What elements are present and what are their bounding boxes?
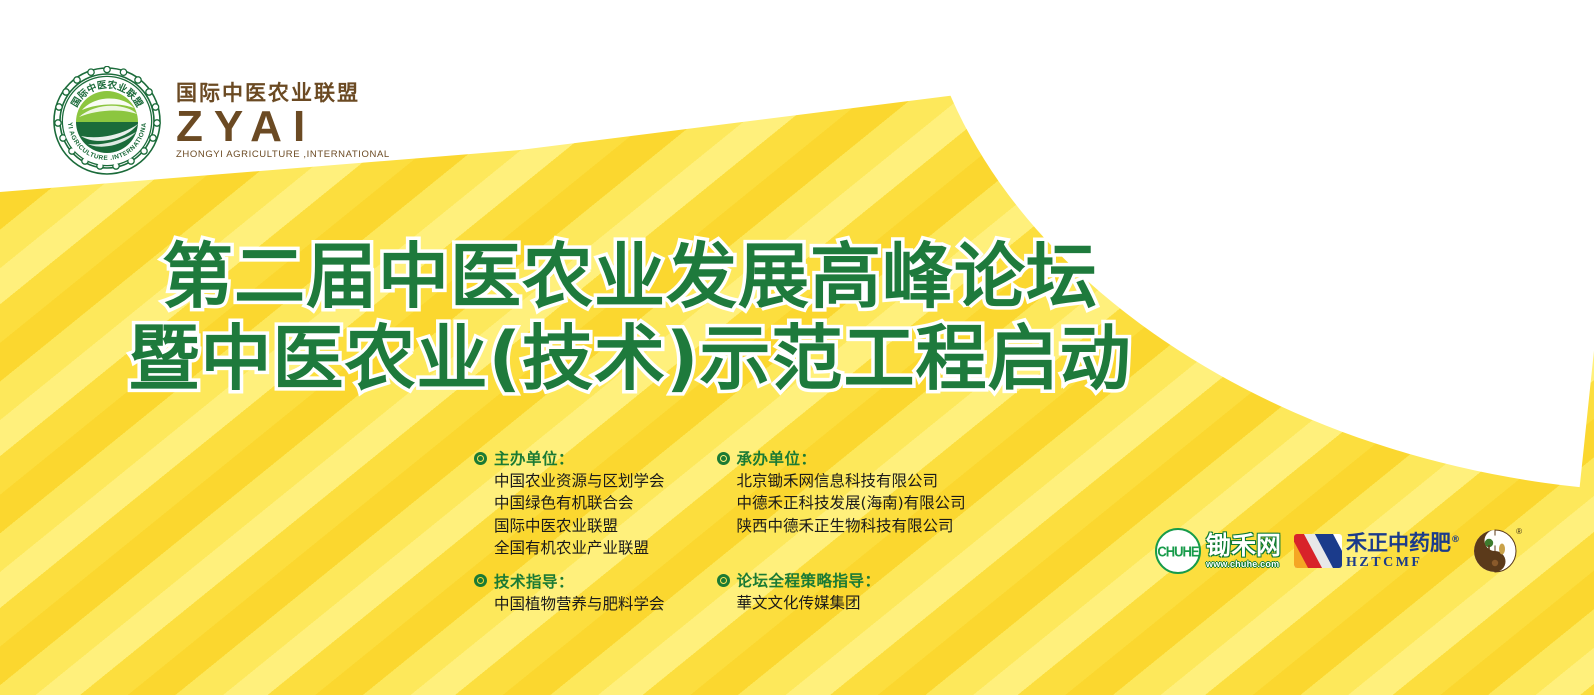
info-group-co-organizers: 承办单位： 北京锄禾网信息科技有限公司 中德禾正科技发展(海南)有限公司 陕西中… — [717, 447, 966, 559]
info-item: 陕西中德禾正生物科技有限公司 — [737, 515, 966, 537]
chuhe-url: www.chuhe.com — [1206, 560, 1281, 569]
sponsor-logo-row: CHUHE 锄禾网 www.chuhe.com 禾正中药肥® HZTCMF — [1155, 528, 1517, 574]
info-item: 北京锄禾网信息科技有限公司 — [737, 470, 966, 492]
title-line-1: 第二届中医农业发展高峰论坛 — [0, 236, 1260, 318]
chuhe-wordmark: 锄禾网 www.chuhe.com — [1206, 533, 1281, 569]
zyai-logo: 国际中医农业联盟 ZHONGYI AGRICULTURE .INTERNATIO… — [52, 66, 390, 176]
info-group-heading-row: 论坛全程策略指导： — [717, 569, 966, 591]
info-heading: 承办单位： — [737, 447, 817, 469]
zyai-seal-icon: 国际中医农业联盟 ZHONGYI AGRICULTURE .INTERNATIO… — [52, 66, 162, 176]
info-spacer — [717, 537, 966, 559]
zyai-acronym: ZYAI — [176, 106, 390, 148]
bullet-ring-icon — [474, 574, 487, 587]
info-heading: 主办单位： — [494, 447, 574, 469]
organizer-info: 主办单位： 中国农业资源与区划学会 中国绿色有机联合会 国际中医农业联盟 全国有… — [474, 447, 966, 615]
sponsor-logo-tree-emblem: ® — [1473, 529, 1517, 573]
zyai-name-en: ZHONGYI AGRICULTURE ,INTERNATIONAL — [176, 150, 390, 160]
info-group-technical-guidance: 技术指导： 中国植物营养与肥料学会 — [474, 570, 665, 615]
banner-canvas: 国际中医农业联盟 ZHONGYI AGRICULTURE .INTERNATIO… — [0, 0, 1594, 695]
registered-mark: ® — [1516, 527, 1522, 536]
registered-mark: ® — [1451, 535, 1460, 545]
info-heading: 论坛全程策略指导： — [737, 569, 881, 591]
title-line-2: 暨中医农业(技术)示范工程启动 — [0, 318, 1260, 400]
info-item: 中国绿色有机联合会 — [494, 492, 665, 514]
info-heading: 技术指导： — [494, 570, 574, 592]
info-item: 中国农业资源与区划学会 — [494, 470, 665, 492]
info-item-list: 北京锄禾网信息科技有限公司 中德禾正科技发展(海南)有限公司 陕西中德禾正生物科… — [717, 470, 966, 537]
info-column-left: 主办单位： 中国农业资源与区划学会 中国绿色有机联合会 国际中医农业联盟 全国有… — [474, 447, 665, 615]
bullet-ring-icon — [717, 452, 730, 465]
banner-title: 第二届中医农业发展高峰论坛 暨中医农业(技术)示范工程启动 — [0, 236, 1260, 401]
chuhe-name-cn: 锄禾网 — [1206, 533, 1281, 558]
info-group-heading-row: 技术指导： — [474, 570, 665, 592]
info-column-right: 承办单位： 北京锄禾网信息科技有限公司 中德禾正科技发展(海南)有限公司 陕西中… — [717, 447, 966, 615]
info-item-list: 中国农业资源与区划学会 中国绿色有机联合会 国际中医农业联盟 全国有机农业产业联… — [474, 470, 665, 560]
hezheng-name-cn-text: 禾正中药肥 — [1346, 531, 1451, 555]
info-item: 全国有机农业产业联盟 — [494, 537, 665, 559]
sponsor-logo-chuhe: CHUHE 锄禾网 www.chuhe.com — [1155, 528, 1281, 574]
info-item: 中德禾正科技发展(海南)有限公司 — [737, 492, 966, 514]
info-item-list: 中国植物营养与肥料学会 — [474, 593, 665, 615]
hezheng-wordmark: 禾正中药肥® HZTCMF — [1346, 533, 1460, 570]
info-group-organizers: 主办单位： 中国农业资源与区划学会 中国绿色有机联合会 国际中医农业联盟 全国有… — [474, 447, 665, 560]
info-group-heading-row: 主办单位： — [474, 447, 665, 469]
bullet-ring-icon — [717, 574, 730, 587]
bullet-ring-icon — [474, 452, 487, 465]
tree-root-emblem-icon — [1473, 529, 1517, 573]
sponsor-logo-hezheng: 禾正中药肥® HZTCMF — [1294, 533, 1460, 570]
info-item: 中国植物营养与肥料学会 — [494, 593, 665, 615]
chuhe-seal-label: CHUHE — [1157, 543, 1198, 560]
chuhe-seal-icon: CHUHE — [1155, 528, 1201, 574]
info-group-heading-row: 承办单位： — [717, 447, 966, 469]
info-item-list: 華文文化传媒集团 — [717, 592, 966, 614]
hezheng-name-en: HZTCMF — [1346, 556, 1460, 570]
zyai-logo-text: 国际中医农业联盟 ZYAI ZHONGYI AGRICULTURE ,INTER… — [176, 83, 390, 159]
hezheng-name-cn: 禾正中药肥® — [1346, 533, 1460, 554]
info-item: 国际中医农业联盟 — [494, 515, 665, 537]
zyai-name-cn: 国际中医农业联盟 — [176, 83, 390, 104]
info-item: 華文文化传媒集团 — [737, 592, 966, 614]
info-group-strategic-guidance: 论坛全程策略指导： 華文文化传媒集团 — [717, 569, 966, 614]
hezheng-mark-icon — [1294, 534, 1342, 568]
